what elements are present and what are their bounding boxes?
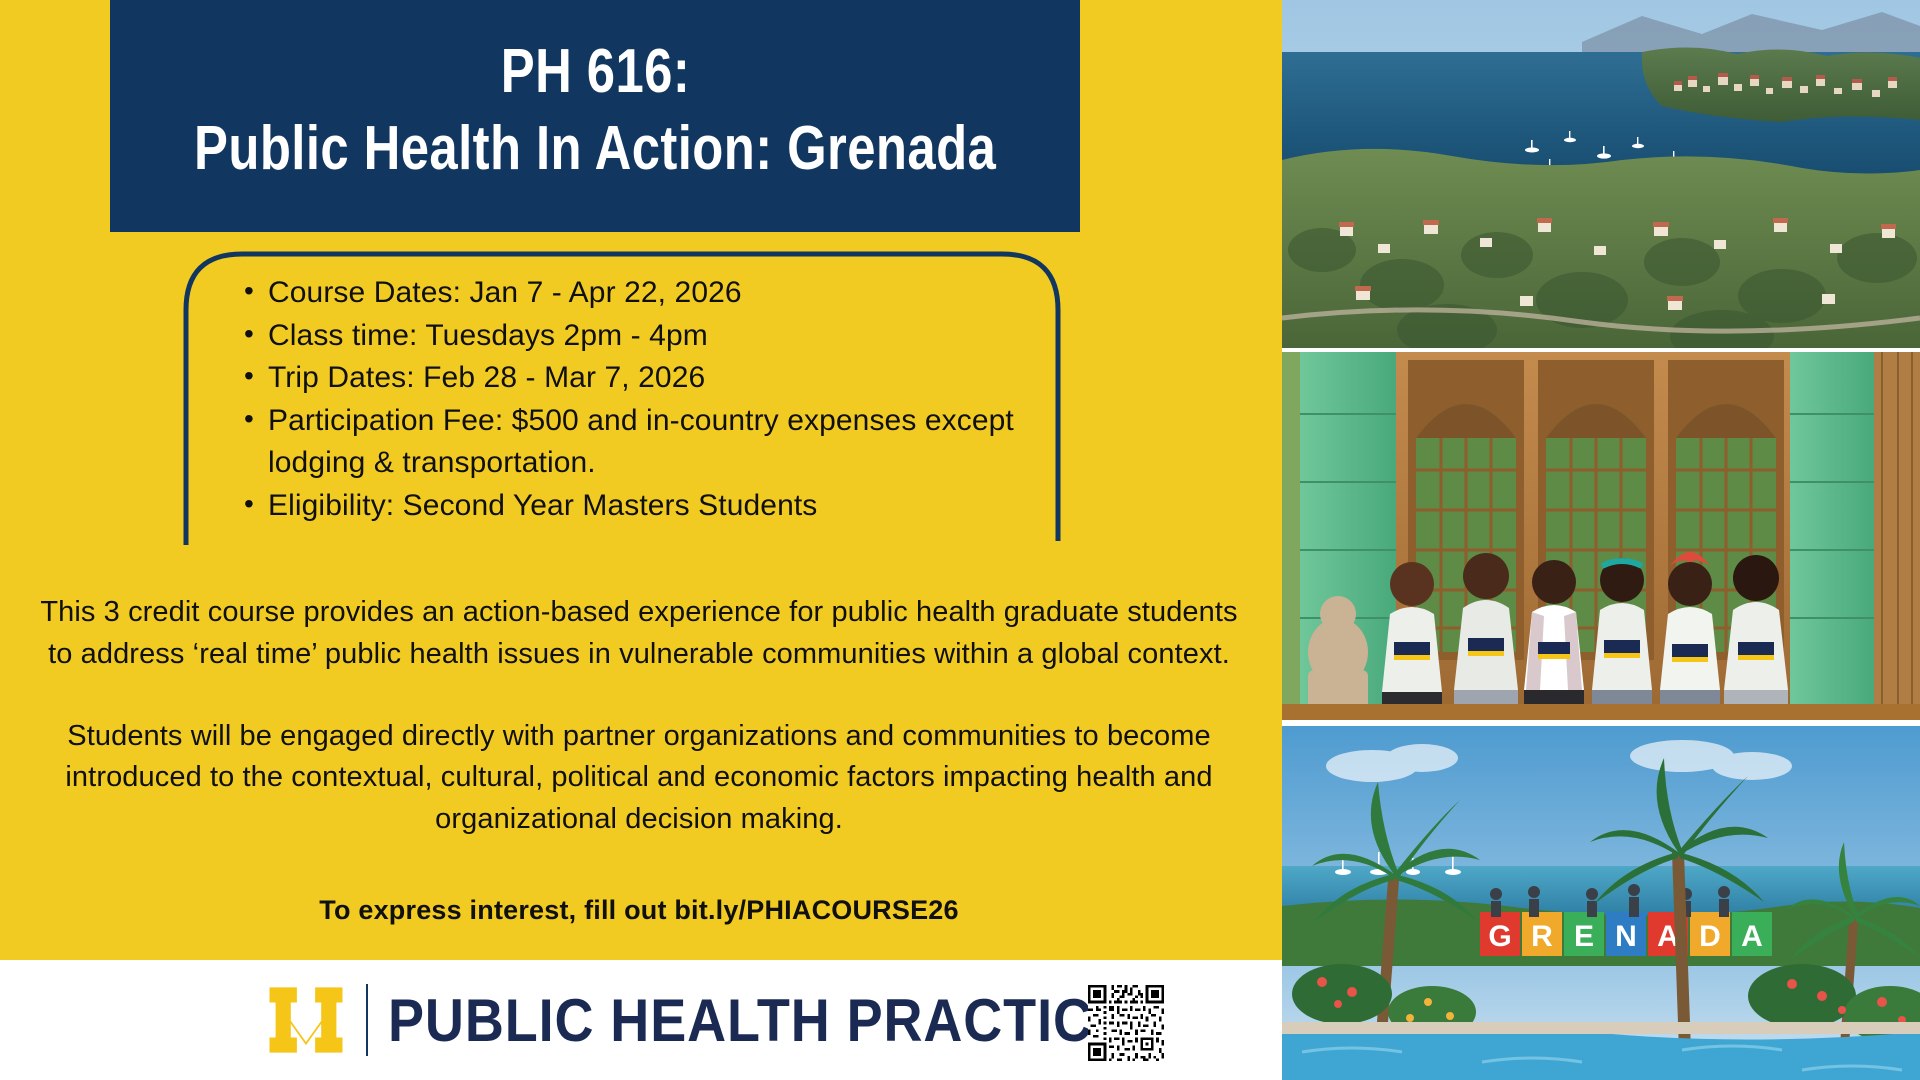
photo-phast-student-group [1282, 352, 1920, 720]
description-paragraph-1: This 3 credit course provides an action-… [34, 592, 1244, 676]
course-code-title: PH 616: [500, 40, 689, 103]
course-details-list: Course Dates: Jan 7 - Apr 22, 2026 Class… [242, 272, 1062, 528]
svg-text:G: G [1488, 920, 1511, 953]
course-details-box: Course Dates: Jan 7 - Apr 22, 2026 Class… [182, 250, 1062, 545]
title-banner: PH 616: Public Health In Action: Grenada [110, 0, 1080, 232]
list-item: Trip Dates: Feb 28 - Mar 7, 2026 [242, 357, 1062, 400]
qr-code-icon[interactable] [1088, 985, 1164, 1061]
list-item: Eligibility: Second Year Masters Student… [242, 485, 1062, 528]
list-item: Participation Fee: $500 and in-country e… [242, 400, 1062, 485]
svg-text:E: E [1574, 920, 1594, 953]
content-column: PH 616: Public Health In Action: Grenada… [0, 0, 1282, 1080]
qr-code-container[interactable] [1088, 985, 1164, 1061]
footer-bar: PUBLIC HEALTH PRACTICE [0, 960, 1282, 1080]
svg-text:R: R [1531, 920, 1553, 953]
logo-divider [366, 984, 368, 1056]
flyer-root: PH 616: Public Health In Action: Grenada… [0, 0, 1920, 1080]
list-item: Course Dates: Jan 7 - Apr 22, 2026 [242, 272, 1062, 315]
call-to-action-link[interactable]: To express interest, fill out bit.ly/PHI… [34, 895, 1244, 926]
photo-grenada-coastline-aerial [1282, 0, 1920, 348]
photo-column: GRE NAD A [1282, 0, 1920, 1080]
svg-text:D: D [1699, 920, 1721, 953]
photo-grenada-sign-palms: GRE NAD A [1282, 726, 1920, 1080]
logo-wordmark: PUBLIC HEALTH PRACTICE [388, 986, 1130, 1055]
course-name-title: Public Health In Action: Grenada [194, 117, 996, 180]
description-paragraph-2: Students will be engaged directly with p… [34, 716, 1244, 841]
logo-lockup: PUBLIC HEALTH PRACTICE [268, 984, 1212, 1056]
svg-text:N: N [1615, 920, 1637, 953]
description-block: This 3 credit course provides an action-… [34, 592, 1244, 841]
list-item: Class time: Tuesdays 2pm - 4pm [242, 315, 1062, 358]
svg-text:A: A [1741, 920, 1763, 953]
block-m-icon [268, 984, 344, 1056]
